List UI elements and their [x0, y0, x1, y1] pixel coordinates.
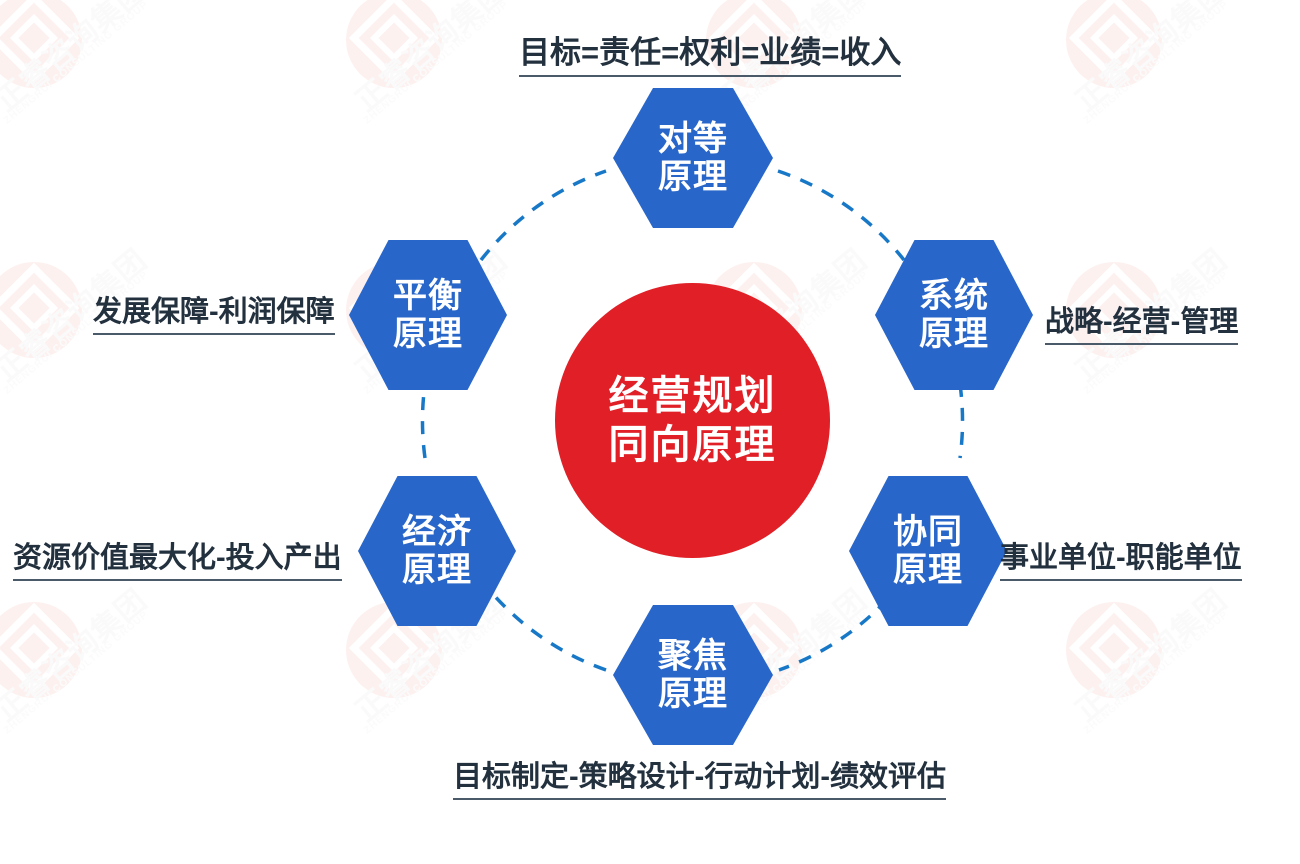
diagram-canvas: 正睿咨询集团 ZHENGRUI CONSULTING GROUP 正睿咨询集团 … [0, 0, 1300, 864]
caption-bottom: 目标制定-策略设计-行动计划-绩效评估 [453, 753, 946, 800]
hex-node-upper-right[interactable]: 系统 原理 [875, 240, 1033, 390]
hex-lower-left-line2: 原理 [402, 551, 472, 589]
hex-top-line2: 原理 [658, 158, 728, 196]
hex-upper-left-line1: 平衡 [393, 277, 463, 315]
hex-upper-right-line1: 系统 [919, 277, 989, 315]
hex-top-line1: 对等 [658, 120, 728, 158]
hex-node-lower-right[interactable]: 协同 原理 [849, 476, 1007, 626]
hex-upper-left-line2: 原理 [393, 315, 463, 353]
hex-node-top[interactable]: 对等 原理 [613, 88, 773, 228]
hex-lower-left-line1: 经济 [402, 513, 472, 551]
caption-left-upper: 发展保障-利润保障 [93, 288, 335, 335]
hex-node-bottom[interactable]: 聚焦 原理 [613, 605, 773, 745]
center-hub-line2: 同向原理 [609, 421, 777, 470]
caption-right-lower: 事业单位-职能单位 [1000, 534, 1242, 581]
center-hub-line1: 经营规划 [609, 372, 777, 421]
caption-top: 目标=责任=权利=业绩=收入 [519, 27, 901, 77]
hex-bottom-line1: 聚焦 [658, 637, 728, 675]
center-hub[interactable]: 经营规划 同向原理 [555, 283, 830, 558]
hex-upper-right-line2: 原理 [919, 315, 989, 353]
diagram-body: 经营规划 同向原理 对等 原理 系统 原理 协同 原理 聚焦 原 [0, 0, 1300, 864]
hex-node-lower-left[interactable]: 经济 原理 [358, 476, 516, 626]
hex-bottom-line2: 原理 [658, 675, 728, 713]
hex-lower-right-line1: 协同 [893, 513, 963, 551]
hex-lower-right-line2: 原理 [893, 551, 963, 589]
caption-right-upper: 战略-经营-管理 [1045, 298, 1238, 345]
caption-left-lower: 资源价值最大化-投入产出 [13, 534, 342, 581]
hex-node-upper-left[interactable]: 平衡 原理 [349, 240, 507, 390]
